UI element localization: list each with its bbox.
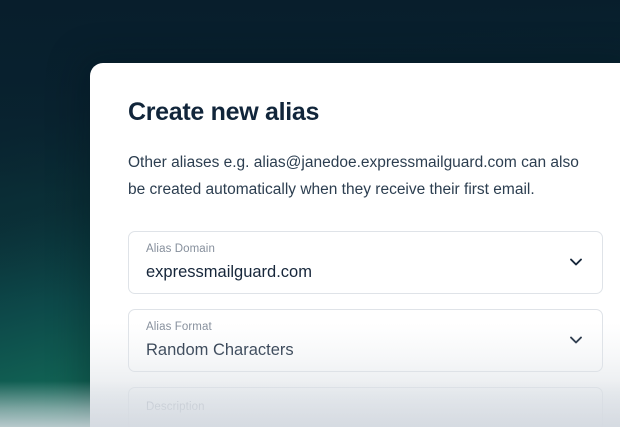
alias-domain-value: expressmailguard.com <box>146 261 588 283</box>
dialog-description: Other aliases e.g. alias@janedoe.express… <box>128 149 580 203</box>
screen: Create new alias Other aliases e.g. alia… <box>0 0 620 427</box>
alias-domain-label: Alias Domain <box>146 242 588 256</box>
create-alias-dialog: Create new alias Other aliases e.g. alia… <box>90 63 620 427</box>
page-title: Create new alias <box>128 97 612 127</box>
alias-domain-select[interactable]: Alias Domain expressmailguard.com <box>128 231 603 294</box>
description-input[interactable]: Description <box>128 387 603 427</box>
alias-format-value: Random Characters <box>146 339 588 361</box>
alias-format-select[interactable]: Alias Format Random Characters <box>128 309 603 372</box>
form-fields: Alias Domain expressmailguard.com Alias … <box>128 231 612 427</box>
dialog-content: Create new alias Other aliases e.g. alia… <box>90 63 620 427</box>
alias-format-label: Alias Format <box>146 320 588 334</box>
description-label: Description <box>146 400 588 414</box>
